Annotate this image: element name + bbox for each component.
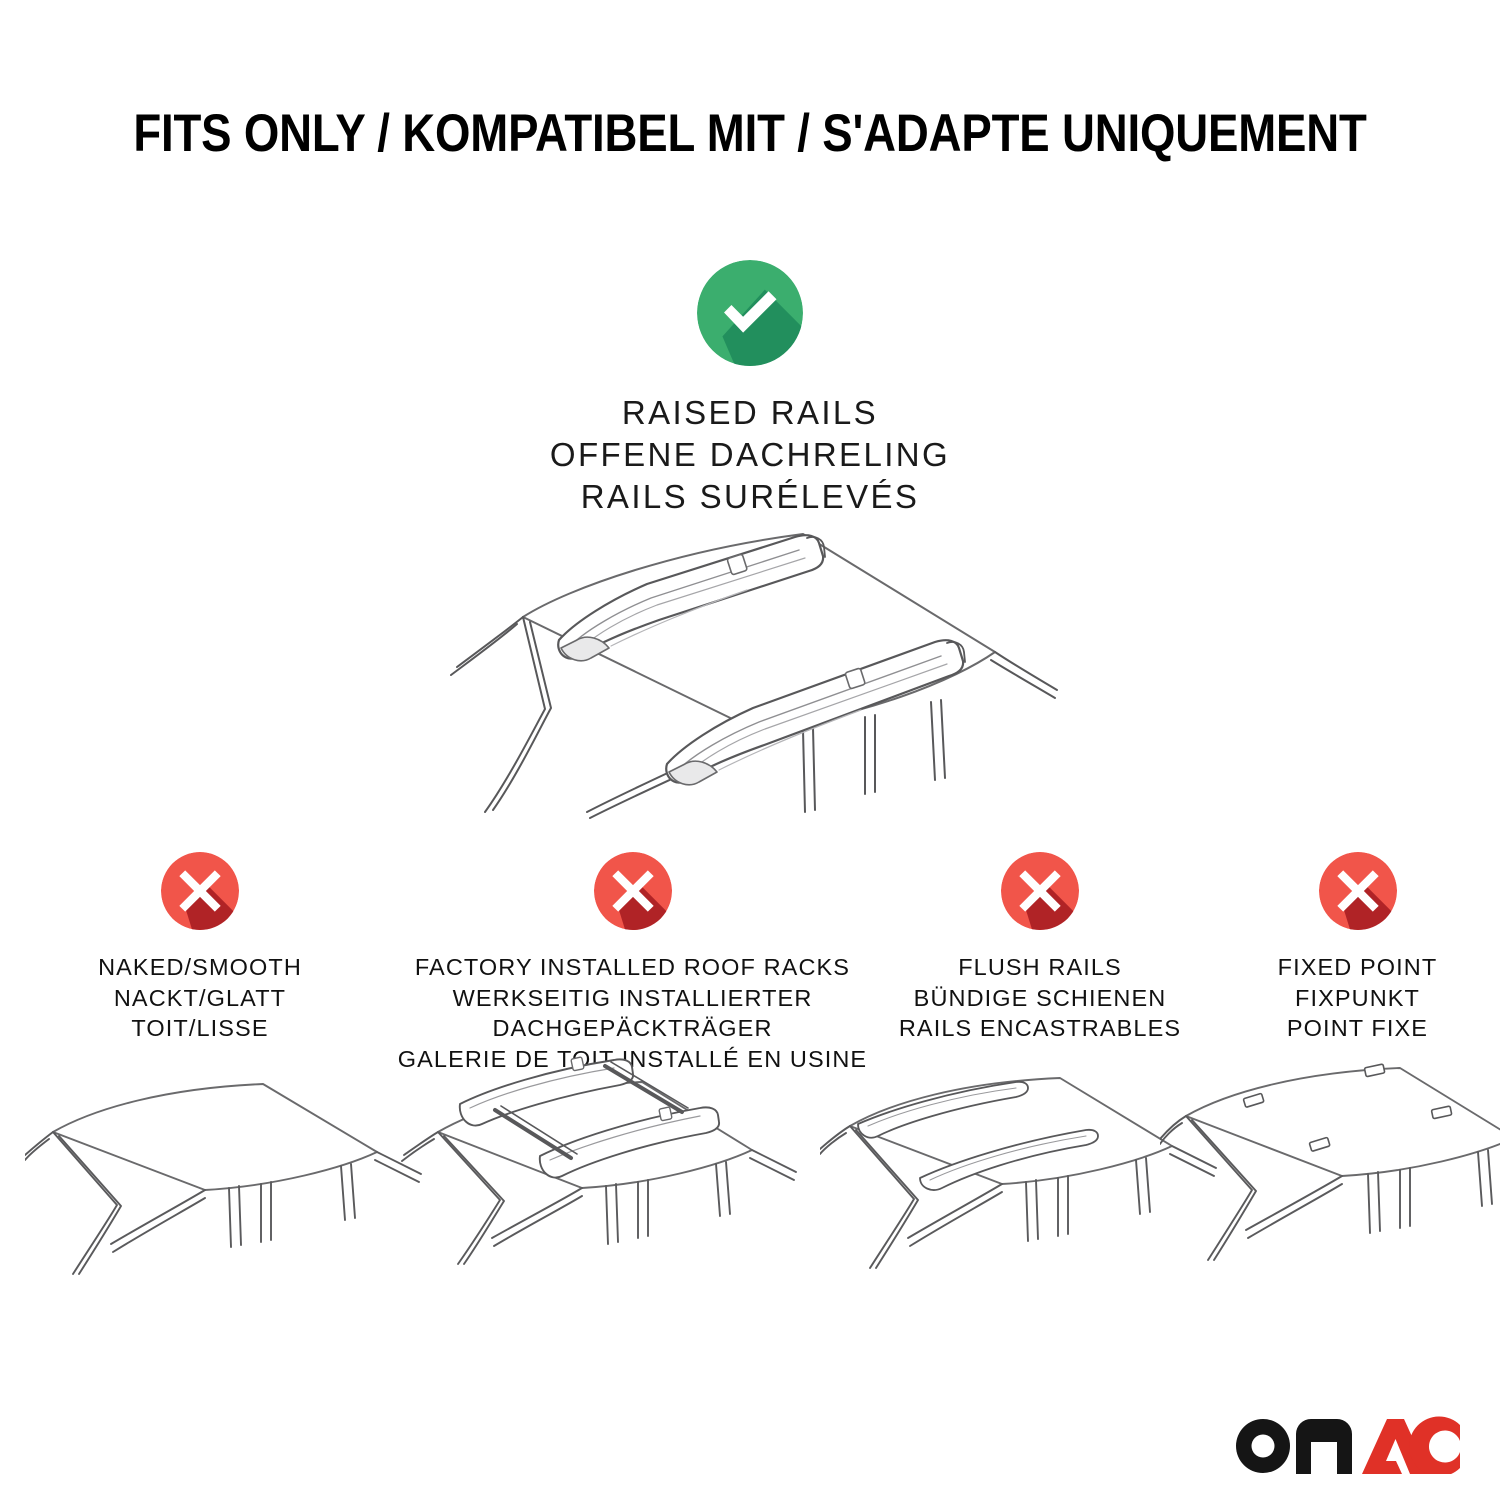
car-roof-fixed-point-illustration [1160, 1052, 1500, 1272]
x-circle-icon [161, 852, 239, 930]
caption-line-en: FIXED POINT [1278, 952, 1438, 983]
logo-letter-o [1236, 1419, 1290, 1473]
caption-line-en: NAKED/SMOOTH [98, 952, 302, 983]
car-roof-factory-roof-racks-illustration [400, 1050, 800, 1270]
fitment-infographic: FITS ONLY / KOMPATIBEL MIT / S'ADAPTE UN… [0, 0, 1500, 1500]
caption-line-de: FIXPUNKT [1278, 983, 1438, 1014]
compatible-line-de: OFFENE DACHRELING [550, 434, 950, 476]
incompatible-item-naked-smooth: NAKED/SMOOTH NACKT/GLATT TOIT/LISSE [40, 852, 360, 1044]
check-circle-icon [697, 260, 803, 366]
car-roof-naked-smooth-illustration [25, 1062, 425, 1282]
x-circle-icon [594, 852, 672, 930]
incompatible-caption: FLUSH RAILS BÜNDIGE SCHIENEN RAILS ENCAS… [899, 952, 1181, 1044]
caption-line-de: BÜNDIGE SCHIENEN [899, 983, 1181, 1014]
caption-line-de-1: WERKSEITIG INSTALLIERTER [398, 983, 867, 1014]
caption-line-fr: POINT FIXE [1278, 1013, 1438, 1044]
incompatible-caption: FIXED POINT FIXPUNKT POINT FIXE [1278, 952, 1438, 1044]
compatible-line-en: RAISED RAILS [550, 392, 950, 434]
incompatible-caption: NAKED/SMOOTH NACKT/GLATT TOIT/LISSE [98, 952, 302, 1044]
caption-line-de-2: DACHGEPÄCKTRÄGER [398, 1013, 867, 1044]
caption-line-en: FLUSH RAILS [899, 952, 1181, 983]
logo-letter-c [1409, 1417, 1460, 1475]
caption-line-de: NACKT/GLATT [98, 983, 302, 1014]
compatible-caption: RAISED RAILS OFFENE DACHRELING RAILS SUR… [550, 392, 950, 519]
page-title: FITS ONLY / KOMPATIBEL MIT / S'ADAPTE UN… [105, 103, 1395, 164]
omac-logo [1232, 1412, 1460, 1474]
incompatible-item-factory-roof-racks: FACTORY INSTALLED ROOF RACKS WERKSEITIG … [395, 852, 870, 1074]
incompatible-item-flush-rails: FLUSH RAILS BÜNDIGE SCHIENEN RAILS ENCAS… [880, 852, 1200, 1044]
logo-letter-m [1296, 1419, 1352, 1474]
caption-line-en: FACTORY INSTALLED ROOF RACKS [398, 952, 867, 983]
caption-line-fr: TOIT/LISSE [98, 1013, 302, 1044]
car-roof-with-raised-rails-illustration [395, 512, 1105, 832]
caption-line-fr: RAILS ENCASTRABLES [899, 1013, 1181, 1044]
incompatible-item-fixed-point: FIXED POINT FIXPUNKT POINT FIXE [1215, 852, 1500, 1044]
x-circle-icon [1001, 852, 1079, 930]
compatible-block: RAISED RAILS OFFENE DACHRELING RAILS SUR… [0, 260, 1500, 519]
incompatible-row: NAKED/SMOOTH NACKT/GLATT TOIT/LISSE FACT… [0, 852, 1500, 1082]
x-circle-icon [1319, 852, 1397, 930]
